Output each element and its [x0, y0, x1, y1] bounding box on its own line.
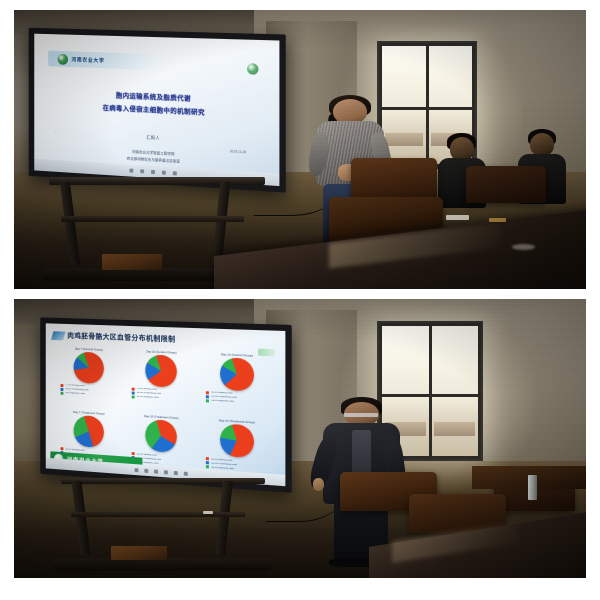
window-pane [382, 326, 428, 394]
pie-chart [220, 424, 253, 459]
slide-header-banner: 河南农业大学 [48, 51, 158, 70]
pie-chart [74, 415, 104, 449]
taskbar-icon[interactable] [162, 171, 166, 175]
photo-panel-top: 河南农业大学 胞内运输系统及脂质代谢 在病毒入侵宿主细胞中的机制研究 汇报人 河… [14, 10, 586, 289]
taskbar-icon[interactable] [173, 171, 177, 175]
taskbar-icon[interactable] [151, 170, 155, 174]
cart-base [54, 558, 271, 570]
cardboard-box [111, 546, 168, 560]
paper-sheet [446, 215, 469, 219]
title-slide: 河南农业大学 胞内运输系统及脂质代谢 在病毒入侵宿主细胞中的机制研究 汇报人 河… [34, 34, 279, 187]
desk-object [512, 244, 535, 250]
pie-chart-title: Day 10 (Control Group) [146, 349, 177, 354]
cart-leg [60, 182, 80, 265]
pie-chart-cell[interactable]: Day 7 (Control Group) 77.0% Resting Cell… [55, 344, 124, 409]
window-pane [432, 397, 478, 456]
taskbar-icon[interactable] [135, 468, 139, 472]
cart-top-bar [61, 478, 265, 485]
pie-chart [145, 420, 177, 454]
cart-shelf [61, 216, 244, 222]
taskbar-icon[interactable] [184, 472, 188, 476]
window-pane [432, 326, 478, 394]
photo-collage: 河南农业大学 胞内运输系统及脂质代谢 在病毒入侵宿主细胞中的机制研究 汇报人 河… [0, 0, 600, 600]
display-screen[interactable]: 河南农业大学 胞内运输系统及脂质代谢 在病毒入侵宿主细胞中的机制研究 汇报人 河… [34, 34, 279, 187]
head [530, 133, 554, 157]
legend-swatch-icon [206, 458, 209, 461]
pie-chart-legend: 77.0% Resting Cells14.0% Proliferating C… [61, 384, 118, 399]
cart-shelf [71, 512, 245, 518]
cart-leg [215, 481, 233, 555]
legend-swatch-icon [132, 388, 135, 391]
display-screen[interactable]: 肉鸡胚骨骼大区血管分布机制限制 Day 7 (Control Group) 77… [46, 324, 285, 487]
interactive-display[interactable]: 河南农业大学 胞内运输系统及脂质代谢 在病毒入侵宿主细胞中的机制研究 汇报人 河… [28, 28, 285, 193]
mobile-tv-cart [54, 478, 271, 573]
legend-label: 12.0% Apoptotic Cells [137, 396, 159, 399]
legend-label: 12.0% Apoptotic Cells [211, 400, 234, 404]
legend-label: 9.0% Apoptotic Cells [65, 393, 85, 396]
pie-chart-title: Day 14 (Control Group) [221, 352, 253, 357]
chart-slide-title: 肉鸡胚骨骼大区血管分布机制限制 [67, 331, 175, 345]
cart-leg [71, 481, 90, 555]
water-bottle [528, 475, 538, 500]
pie-chart [145, 354, 177, 388]
wooden-chair [351, 158, 437, 203]
taskbar-icon[interactable] [164, 470, 168, 474]
chart-slide: 肉鸡胚骨骼大区血管分布机制限制 Day 7 (Control Group) 77… [46, 324, 285, 487]
taskbar-icon[interactable] [140, 169, 144, 173]
taskbar-icon[interactable] [129, 169, 133, 173]
legend-swatch-icon [132, 392, 135, 395]
slide-affiliation: 河南农业大学牧医工程学院 农业部动物生化与营养重点实验室 [126, 148, 179, 165]
pie-chart [220, 357, 253, 391]
slide-author: 汇报人 [146, 135, 160, 142]
window-pane [429, 46, 473, 108]
pie-chart-title: Day 7 (Control Group) [75, 347, 103, 352]
legend-swatch-icon [206, 400, 209, 403]
ribbon-accent-icon [51, 331, 65, 340]
legend-swatch-icon [206, 462, 209, 465]
cardboard-box [102, 254, 161, 270]
legend-swatch-icon [132, 396, 135, 399]
slide-banner-text: 河南农业大学 [71, 56, 104, 64]
taskbar-icon[interactable] [174, 471, 178, 475]
legend-swatch-icon [206, 391, 209, 394]
wooden-chair [466, 166, 546, 202]
pie-chart-legend: 70.0% Resting Cells18.0% Proliferating C… [132, 388, 191, 403]
pie-chart-cell[interactable]: Day 10 (Control Group) 70.0% Resting Cel… [126, 347, 198, 414]
interactive-display[interactable]: 肉鸡胚骨骼大区血管分布机制限制 Day 7 (Control Group) 77… [40, 318, 291, 493]
legend-swatch-icon [61, 392, 64, 395]
taskbar-icon[interactable] [145, 469, 149, 473]
slide-title: 胞内运输系统及脂质代谢 在病毒入侵宿主细胞中的机制研究 [57, 88, 253, 122]
taskbar-icon[interactable] [154, 469, 158, 473]
slide-badge-icon [258, 349, 275, 357]
cart-leg [212, 182, 231, 265]
photo-panel-bottom: 肉鸡胚骨骼大区血管分布机制限制 Day 7 (Control Group) 77… [14, 299, 586, 578]
legend-swatch-icon [61, 384, 64, 387]
glasses-icon [344, 413, 378, 417]
cart-top-bar [49, 177, 264, 184]
slide-corner-seal-icon [247, 63, 258, 75]
university-seal-icon [57, 53, 67, 64]
paper-sheet [489, 218, 506, 222]
pie-chart-legend: 68.0% Resting Cells20.0% Proliferating C… [206, 391, 268, 406]
paper-sheet [203, 511, 213, 514]
slide-date: 2019.11.28 [229, 149, 245, 154]
legend-swatch-icon [206, 396, 209, 399]
window-pane [382, 46, 426, 108]
pie-chart [74, 351, 104, 384]
pie-chart-cell[interactable]: Day 14 (Control Group) 68.0% Resting Cel… [200, 349, 275, 417]
